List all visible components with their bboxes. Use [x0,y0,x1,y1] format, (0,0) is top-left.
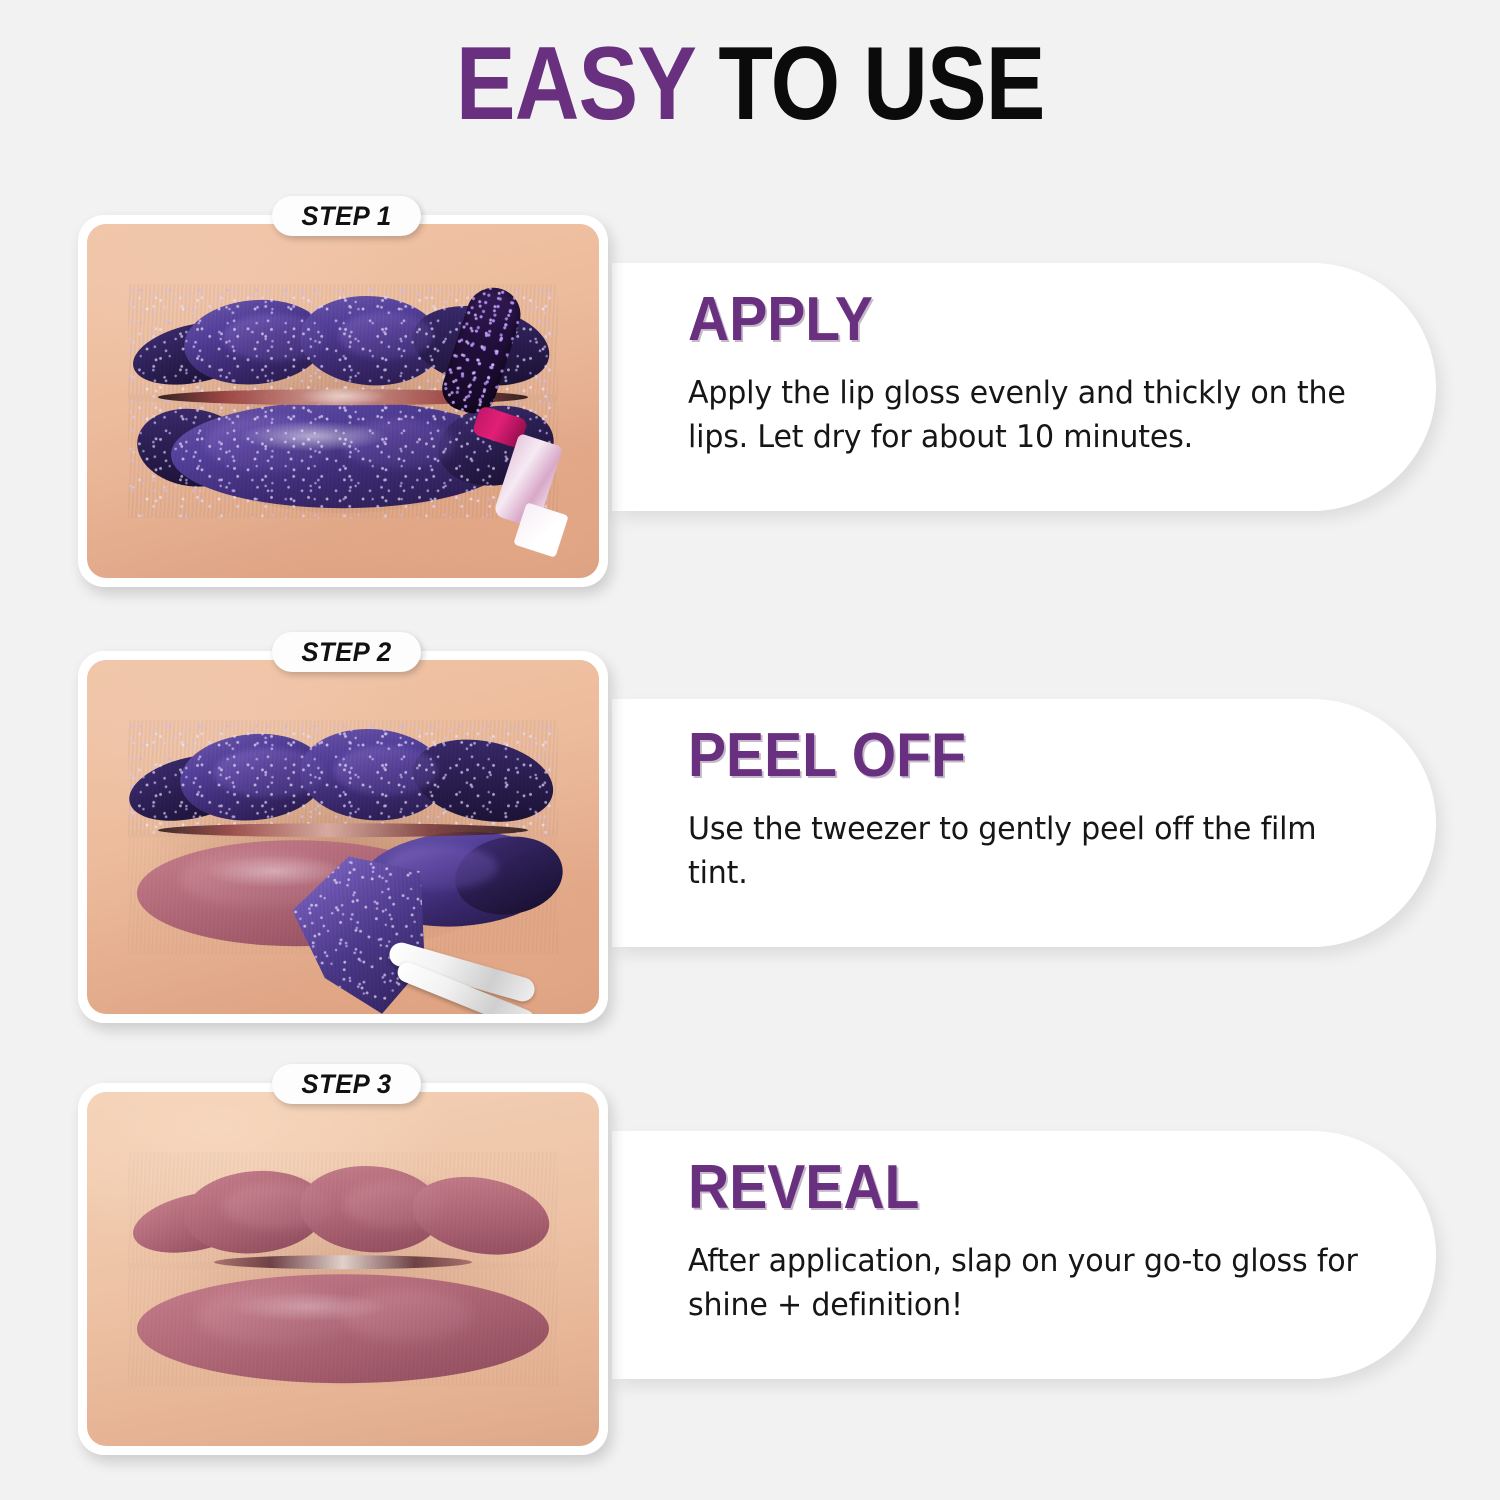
page-title-rest: TO USE [694,26,1044,142]
step-1-photo [87,224,599,578]
step-2-heading: PEEL OFF [688,725,1341,787]
step-1-description: Apply the lip gloss evenly and thickly o… [688,371,1377,459]
step-2-badge-label: STEP 2 [301,637,391,668]
step-3-text-panel: REVEAL After application, slap on your g… [612,1131,1436,1379]
step-3-badge-label: STEP 3 [301,1069,391,1100]
step-2-image-card [78,651,608,1023]
page-title-accent: EASY [456,26,695,142]
step-2-badge: STEP 2 [272,632,421,672]
step-1-heading: APPLY [688,289,1341,351]
step-1-image-card [78,215,608,587]
step-2-description: Use the tweezer to gently peel off the f… [688,807,1377,895]
step-3-photo [87,1092,599,1446]
step-1-text-panel: APPLY Apply the lip gloss evenly and thi… [612,263,1436,511]
step-2-text-panel: PEEL OFF Use the tweezer to gently peel … [612,699,1436,947]
step-3-badge: STEP 3 [272,1064,421,1104]
step-3-image-card [78,1083,608,1455]
page-title: EASY TO USE [0,28,1500,140]
step-3-heading: REVEAL [688,1157,1341,1219]
lips-rose-matte [128,1152,558,1386]
step-1-badge-label: STEP 1 [301,201,391,232]
step-2-photo [87,660,599,1014]
step-3-description: After application, slap on your go-to gl… [688,1239,1377,1327]
step-1-badge: STEP 1 [272,196,421,236]
